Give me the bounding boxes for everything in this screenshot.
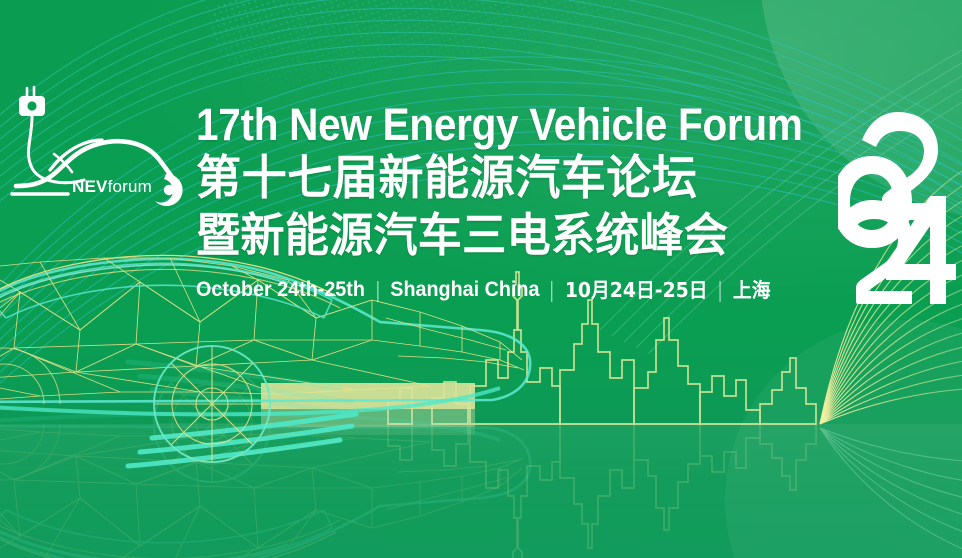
title-block: 17th New Energy Vehicle Forum 第十七届新能源汽车论…	[196, 100, 846, 302]
charging-plug-icon	[27, 87, 34, 96]
title-english: 17th New Energy Vehicle Forum	[196, 100, 781, 150]
meta-location-en: Shanghai China	[390, 278, 539, 302]
logo-wordmark-light: forum	[108, 177, 152, 196]
year-digits	[838, 104, 956, 304]
logo-wordmark-bold: NEV	[72, 177, 108, 196]
ground-reflection-band	[0, 424, 962, 558]
logo-wordmark: NEVforum	[72, 177, 152, 197]
event-banner: NEVforum 17th New Energy Vehicle Forum 第…	[0, 0, 962, 558]
meta-separator-2	[552, 281, 553, 302]
meta-separator-1	[377, 281, 378, 302]
wheel-icon	[155, 174, 183, 206]
title-chinese-line1: 第十七届新能源汽车论坛	[196, 150, 820, 207]
meta-location-cn: 上海	[733, 278, 771, 302]
plug-socket-icon	[27, 101, 36, 110]
meta-separator-3	[720, 281, 721, 302]
year-2024-graphic	[838, 104, 956, 304]
meta-date-en: October 24th-25th	[196, 278, 365, 302]
title-chinese-line2: 暨新能源汽车三电系统峰会	[196, 207, 820, 264]
nev-forum-logo: NEVforum	[6, 74, 196, 214]
meta-date-cn: 10月24日-25日	[565, 278, 708, 302]
event-meta-line: October 24th-25th Shanghai China 10月24日-…	[196, 278, 807, 302]
